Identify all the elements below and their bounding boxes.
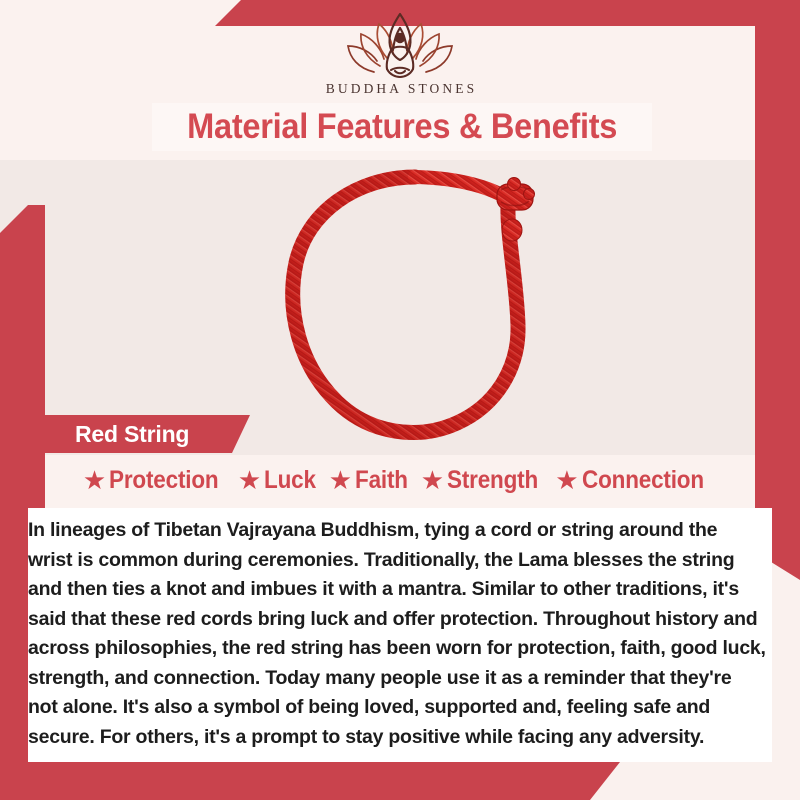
frame-bar-bottom	[0, 762, 620, 800]
benefit-item-strength: ★ Strength	[421, 466, 548, 495]
product-name-banner: Red String	[30, 415, 250, 453]
star-icon: ★	[83, 467, 106, 493]
benefits-row: ★ Protection ★ Luck ★ Faith ★ Strength ★…	[0, 466, 800, 495]
title-band: Material Features & Benefits	[152, 103, 652, 151]
infographic-page: BUDDHA STONES Material Features & Benefi…	[0, 0, 800, 800]
description-panel: In lineages of Tibetan Vajrayana Buddhis…	[28, 508, 772, 762]
product-image-red-string-bracelet	[265, 160, 565, 460]
benefit-label: Connection	[582, 466, 704, 495]
benefit-label: Luck	[264, 466, 316, 495]
star-icon: ★	[555, 467, 578, 493]
benefit-label: Faith	[355, 466, 408, 495]
page-title: Material Features & Benefits	[187, 107, 617, 147]
benefit-item-protection: ★ Protection	[83, 466, 231, 495]
star-icon: ★	[329, 467, 352, 493]
benefit-label: Strength	[447, 466, 538, 495]
lotus-meditation-icon	[344, 8, 456, 80]
benefit-item-faith: ★ Faith	[329, 466, 414, 495]
star-icon: ★	[421, 467, 444, 493]
benefit-item-connection: ★ Connection	[555, 466, 717, 495]
product-name-label: Red String	[75, 421, 189, 448]
brand-header: BUDDHA STONES	[0, 8, 800, 97]
brand-name: BUDDHA STONES	[323, 81, 477, 97]
benefit-label: Protection	[109, 466, 218, 495]
star-icon: ★	[238, 467, 261, 493]
description-paragraph: In lineages of Tibetan Vajrayana Buddhis…	[28, 516, 772, 752]
benefit-item-luck: ★ Luck	[238, 466, 322, 495]
